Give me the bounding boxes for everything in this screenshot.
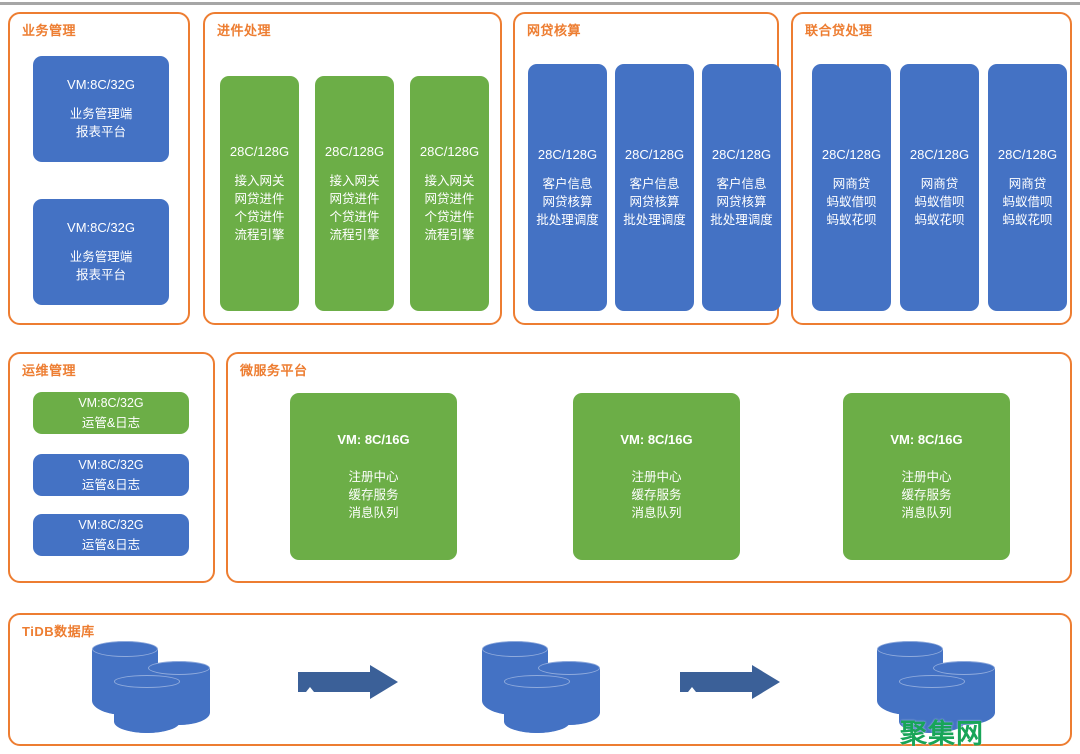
node-spec: VM: 8C/16G [337, 431, 409, 450]
node-roles: 客户信息 网贷核算 批处理调度 [623, 175, 686, 229]
node-role: 蚂蚁花呗 [826, 211, 876, 229]
group-title-joint-loan-processing: 联合贷处理 [805, 20, 873, 39]
node-roles: 注册中心 缓存服务 消息队列 [901, 468, 951, 522]
node-business-mgmt-1[interactable]: VM:8C/32G 业务管理端 报表平台 [33, 56, 169, 162]
node-role: 缓存服务 [631, 486, 681, 504]
node-role: 个贷进件 [424, 208, 474, 226]
node-ops-1[interactable]: VM:8C/32G 运管&日志 [33, 392, 189, 434]
node-spec: 28C/128G [712, 146, 771, 165]
node-spec: VM:8C/32G [78, 394, 143, 412]
node-roles: 运管&日志 [82, 476, 140, 494]
node-role: 注册中心 [901, 468, 951, 486]
node-spec: VM:8C/32G [67, 76, 135, 95]
group-title-business-mgmt: 业务管理 [22, 20, 76, 39]
group-online-loan-accounting: 网贷核算 28C/128G 客户信息 网贷核算 批处理调度 28C/128G 客… [513, 12, 779, 325]
node-role: 网商贷 [1002, 175, 1052, 193]
node-roles: 运管&日志 [82, 414, 140, 432]
node-role: 接入网关 [424, 172, 474, 190]
node-role: 缓存服务 [348, 486, 398, 504]
node-ops-3[interactable]: VM:8C/32G 运管&日志 [33, 514, 189, 556]
group-title-tidb-database: TiDB数据库 [22, 621, 95, 640]
node-roles: 客户信息 网贷核算 批处理调度 [710, 175, 773, 229]
node-microservice-2[interactable]: VM: 8C/16G 注册中心 缓存服务 消息队列 [573, 393, 740, 560]
group-business-mgmt: 业务管理 VM:8C/32G 业务管理端 报表平台 VM:8C/32G 业务管理… [8, 12, 190, 325]
group-microservice-platform: 微服务平台 VM: 8C/16G 注册中心 缓存服务 消息队列 VM: 8C/1… [226, 352, 1072, 583]
node-role: 网贷进件 [424, 190, 474, 208]
node-roles: 业务管理端 报表平台 [70, 105, 133, 141]
database-cylinder-icon [504, 675, 570, 733]
node-spec: 28C/128G [538, 146, 597, 165]
node-accounting-1[interactable]: 28C/128G 客户信息 网贷核算 批处理调度 [528, 64, 607, 311]
node-role: 报表平台 [70, 123, 133, 141]
node-role: 消息队列 [348, 504, 398, 522]
group-title-microservice-platform: 微服务平台 [240, 360, 308, 379]
node-accounting-3[interactable]: 28C/128G 客户信息 网贷核算 批处理调度 [702, 64, 781, 311]
node-role: 网贷进件 [329, 190, 379, 208]
node-spec: 28C/128G [325, 143, 384, 162]
node-role: 网商贷 [826, 175, 876, 193]
node-intake-2[interactable]: 28C/128G 接入网关 网贷进件 个贷进件 流程引擎 [315, 76, 394, 311]
node-business-mgmt-2[interactable]: VM:8C/32G 业务管理端 报表平台 [33, 199, 169, 305]
node-role: 业务管理端 [70, 105, 133, 123]
node-spec: VM:8C/32G [67, 219, 135, 238]
node-role: 蚂蚁借呗 [914, 193, 964, 211]
node-role: 运管&日志 [82, 536, 140, 554]
node-role: 客户信息 [536, 175, 599, 193]
node-role: 注册中心 [348, 468, 398, 486]
node-roles: 注册中心 缓存服务 消息队列 [631, 468, 681, 522]
group-joint-loan-processing: 联合贷处理 28C/128G 网商贷 蚂蚁借呗 蚂蚁花呗 28C/128G 网商… [791, 12, 1072, 325]
node-role: 流程引擎 [329, 226, 379, 244]
node-roles: 网商贷 蚂蚁借呗 蚂蚁花呗 [914, 175, 964, 229]
node-role: 批处理调度 [710, 211, 773, 229]
node-spec: 28C/128G [625, 146, 684, 165]
node-role: 注册中心 [631, 468, 681, 486]
node-spec: 28C/128G [822, 146, 881, 165]
database-cylinder-icon [114, 675, 180, 733]
group-title-intake-processing: 进件处理 [217, 20, 271, 39]
node-spec: VM:8C/32G [78, 456, 143, 474]
node-role: 接入网关 [234, 172, 284, 190]
node-role: 批处理调度 [623, 211, 686, 229]
node-roles: 业务管理端 报表平台 [70, 248, 133, 284]
node-intake-1[interactable]: 28C/128G 接入网关 网贷进件 个贷进件 流程引擎 [220, 76, 299, 311]
node-spec: 28C/128G [998, 146, 1057, 165]
replication-arrow-1 [298, 663, 398, 701]
db-cluster-2[interactable] [480, 637, 610, 733]
node-role: 网贷核算 [536, 193, 599, 211]
node-roles: 运管&日志 [82, 536, 140, 554]
node-roles: 网商贷 蚂蚁借呗 蚂蚁花呗 [826, 175, 876, 229]
node-role: 消息队列 [631, 504, 681, 522]
group-title-online-loan-accounting: 网贷核算 [527, 20, 581, 39]
node-role: 流程引擎 [424, 226, 474, 244]
node-role: 网贷进件 [234, 190, 284, 208]
node-role: 客户信息 [710, 175, 773, 193]
node-role: 蚂蚁花呗 [1002, 211, 1052, 229]
node-role: 消息队列 [901, 504, 951, 522]
node-role: 网贷核算 [710, 193, 773, 211]
node-spec: VM: 8C/16G [890, 431, 962, 450]
node-role: 流程引擎 [234, 226, 284, 244]
node-spec: 28C/128G [910, 146, 969, 165]
node-intake-3[interactable]: 28C/128G 接入网关 网贷进件 个贷进件 流程引擎 [410, 76, 489, 311]
replication-arrow-2 [680, 663, 780, 701]
node-joint-loan-3[interactable]: 28C/128G 网商贷 蚂蚁借呗 蚂蚁花呗 [988, 64, 1067, 311]
node-role: 批处理调度 [536, 211, 599, 229]
node-microservice-1[interactable]: VM: 8C/16G 注册中心 缓存服务 消息队列 [290, 393, 457, 560]
node-role: 个贷进件 [329, 208, 379, 226]
node-role: 网商贷 [914, 175, 964, 193]
node-roles: 接入网关 网贷进件 个贷进件 流程引擎 [424, 172, 474, 245]
node-role: 运管&日志 [82, 414, 140, 432]
db-cluster-1[interactable] [90, 637, 220, 733]
node-role: 蚂蚁借呗 [1002, 193, 1052, 211]
node-role: 客户信息 [623, 175, 686, 193]
top-divider-rule [0, 2, 1080, 5]
node-role: 报表平台 [70, 266, 133, 284]
node-role: 蚂蚁借呗 [826, 193, 876, 211]
node-joint-loan-1[interactable]: 28C/128G 网商贷 蚂蚁借呗 蚂蚁花呗 [812, 64, 891, 311]
site-watermark: 聚集网 [900, 712, 984, 751]
node-roles: 接入网关 网贷进件 个贷进件 流程引擎 [329, 172, 379, 245]
node-roles: 注册中心 缓存服务 消息队列 [348, 468, 398, 522]
node-roles: 客户信息 网贷核算 批处理调度 [536, 175, 599, 229]
node-role: 个贷进件 [234, 208, 284, 226]
node-role: 网贷核算 [623, 193, 686, 211]
node-roles: 网商贷 蚂蚁借呗 蚂蚁花呗 [1002, 175, 1052, 229]
group-title-ops-mgmt: 运维管理 [22, 360, 76, 379]
node-microservice-3[interactable]: VM: 8C/16G 注册中心 缓存服务 消息队列 [843, 393, 1010, 560]
node-accounting-2[interactable]: 28C/128G 客户信息 网贷核算 批处理调度 [615, 64, 694, 311]
group-ops-mgmt: 运维管理 VM:8C/32G 运管&日志 VM:8C/32G 运管&日志 VM:… [8, 352, 215, 583]
architecture-diagram: 业务管理 VM:8C/32G 业务管理端 报表平台 VM:8C/32G 业务管理… [0, 0, 1080, 754]
node-ops-2[interactable]: VM:8C/32G 运管&日志 [33, 454, 189, 496]
node-role: 接入网关 [329, 172, 379, 190]
node-spec: VM:8C/32G [78, 516, 143, 534]
node-role: 缓存服务 [901, 486, 951, 504]
node-roles: 接入网关 网贷进件 个贷进件 流程引擎 [234, 172, 284, 245]
node-role: 运管&日志 [82, 476, 140, 494]
node-role: 业务管理端 [70, 248, 133, 266]
node-spec: 28C/128G [230, 143, 289, 162]
node-role: 蚂蚁花呗 [914, 211, 964, 229]
node-spec: VM: 8C/16G [620, 431, 692, 450]
node-spec: 28C/128G [420, 143, 479, 162]
node-joint-loan-2[interactable]: 28C/128G 网商贷 蚂蚁借呗 蚂蚁花呗 [900, 64, 979, 311]
group-intake-processing: 进件处理 28C/128G 接入网关 网贷进件 个贷进件 流程引擎 28C/12… [203, 12, 502, 325]
